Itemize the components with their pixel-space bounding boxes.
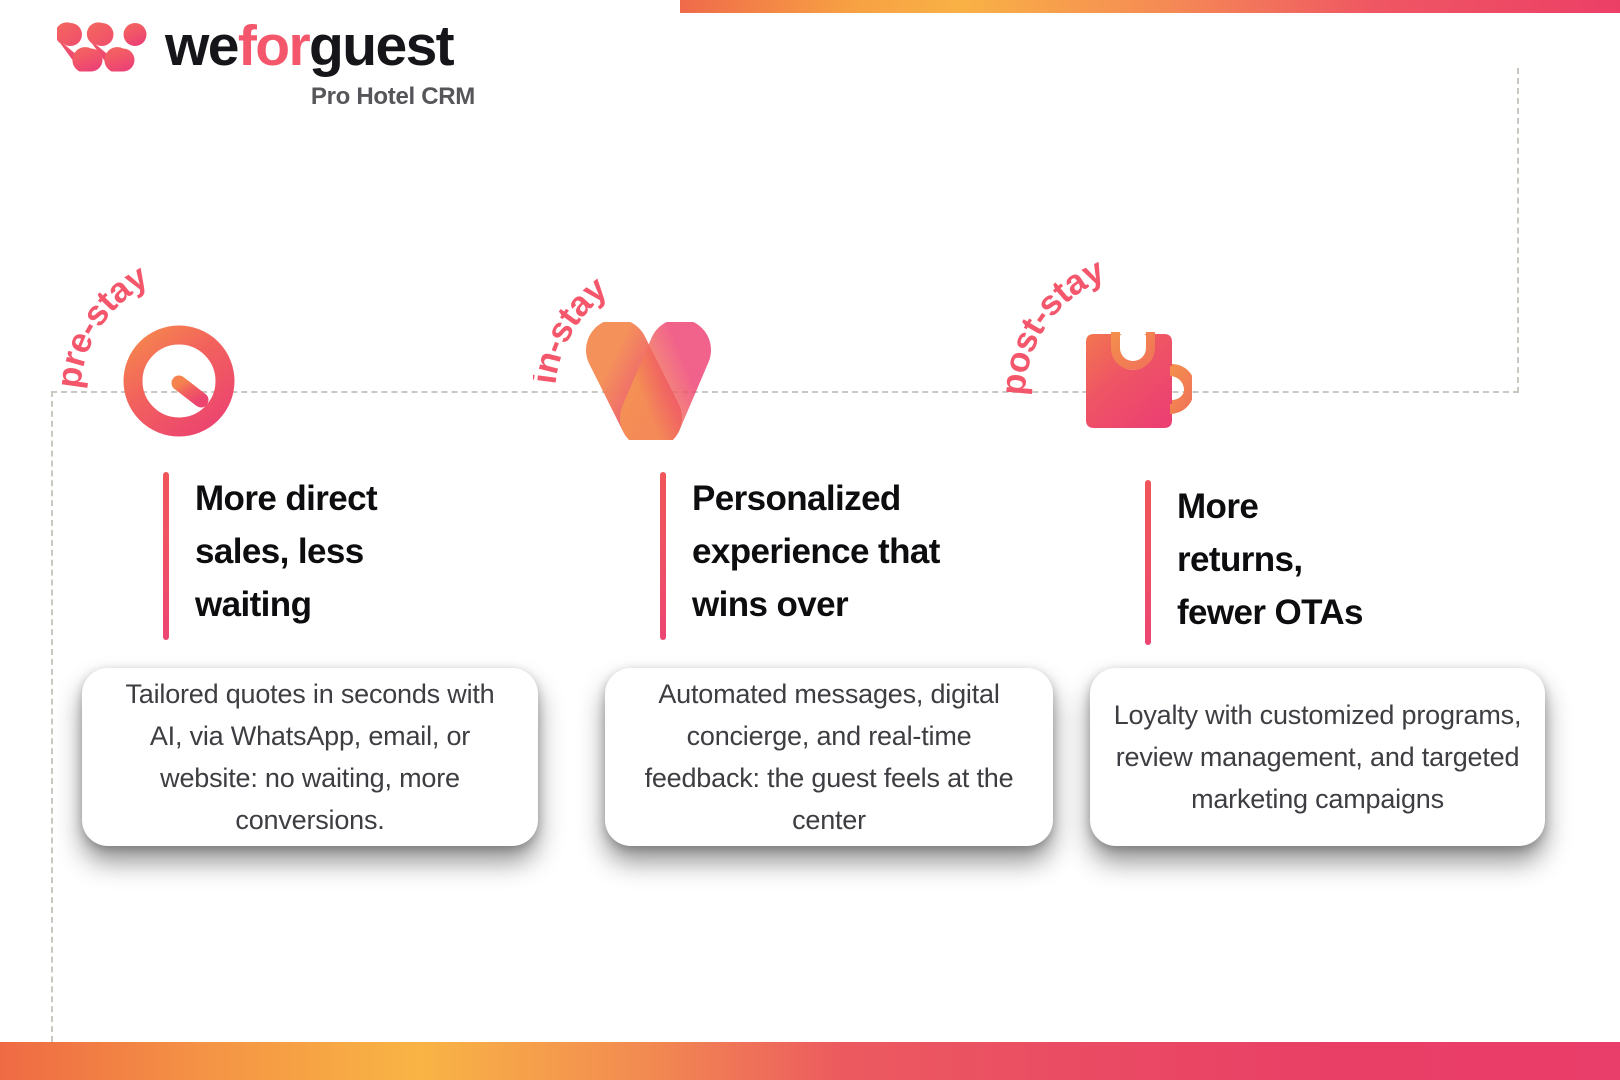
bottom-gradient-bar <box>0 1042 1620 1080</box>
headline-text: More direct sales, less waiting <box>195 472 377 640</box>
dashed-line-horizontal <box>51 391 1519 393</box>
headline-post-stay: More returns, fewer OTAs <box>1145 480 1435 645</box>
brand-tagline: Pro Hotel CRM <box>57 83 487 111</box>
weforguest-dots-icon <box>57 21 149 73</box>
puzzle-piece-icon <box>1080 332 1192 443</box>
headline-text: More returns, fewer OTAs <box>1177 480 1363 645</box>
dashed-line-left <box>51 391 53 1042</box>
dashed-line-right <box>1517 68 1519 393</box>
card-pre-stay: Tailored quotes in seconds with AI, via … <box>82 668 538 846</box>
headline-accent-bar <box>660 472 666 640</box>
brand-wordmark: weforguest <box>165 18 453 75</box>
headline-in-stay: Personalized experience that wins over <box>660 472 990 640</box>
brand-name-for: for <box>238 14 309 78</box>
card-in-stay: Automated messages, digital concierge, a… <box>605 668 1053 846</box>
card-text: Loyalty with customized programs, review… <box>1110 694 1525 820</box>
card-text: Automated messages, digital concierge, a… <box>631 673 1027 841</box>
clock-icon <box>123 325 235 442</box>
headline-pre-stay: More direct sales, less waiting <box>163 472 463 640</box>
brand-name-we: we <box>165 14 238 78</box>
headline-accent-bar <box>163 472 169 640</box>
headline-text: Personalized experience that wins over <box>692 472 940 640</box>
headline-accent-bar <box>1145 480 1151 645</box>
brand-name-guest: guest <box>309 14 453 78</box>
brand-logo: weforguest Pro Hotel CRM <box>57 18 487 111</box>
card-text: Tailored quotes in seconds with AI, via … <box>110 673 510 841</box>
heart-icon <box>585 322 711 445</box>
top-gradient-bar <box>680 0 1620 13</box>
infographic-canvas: weforguest Pro Hotel CRM pre-stay <box>0 0 1620 1080</box>
card-post-stay: Loyalty with customized programs, review… <box>1090 668 1545 846</box>
